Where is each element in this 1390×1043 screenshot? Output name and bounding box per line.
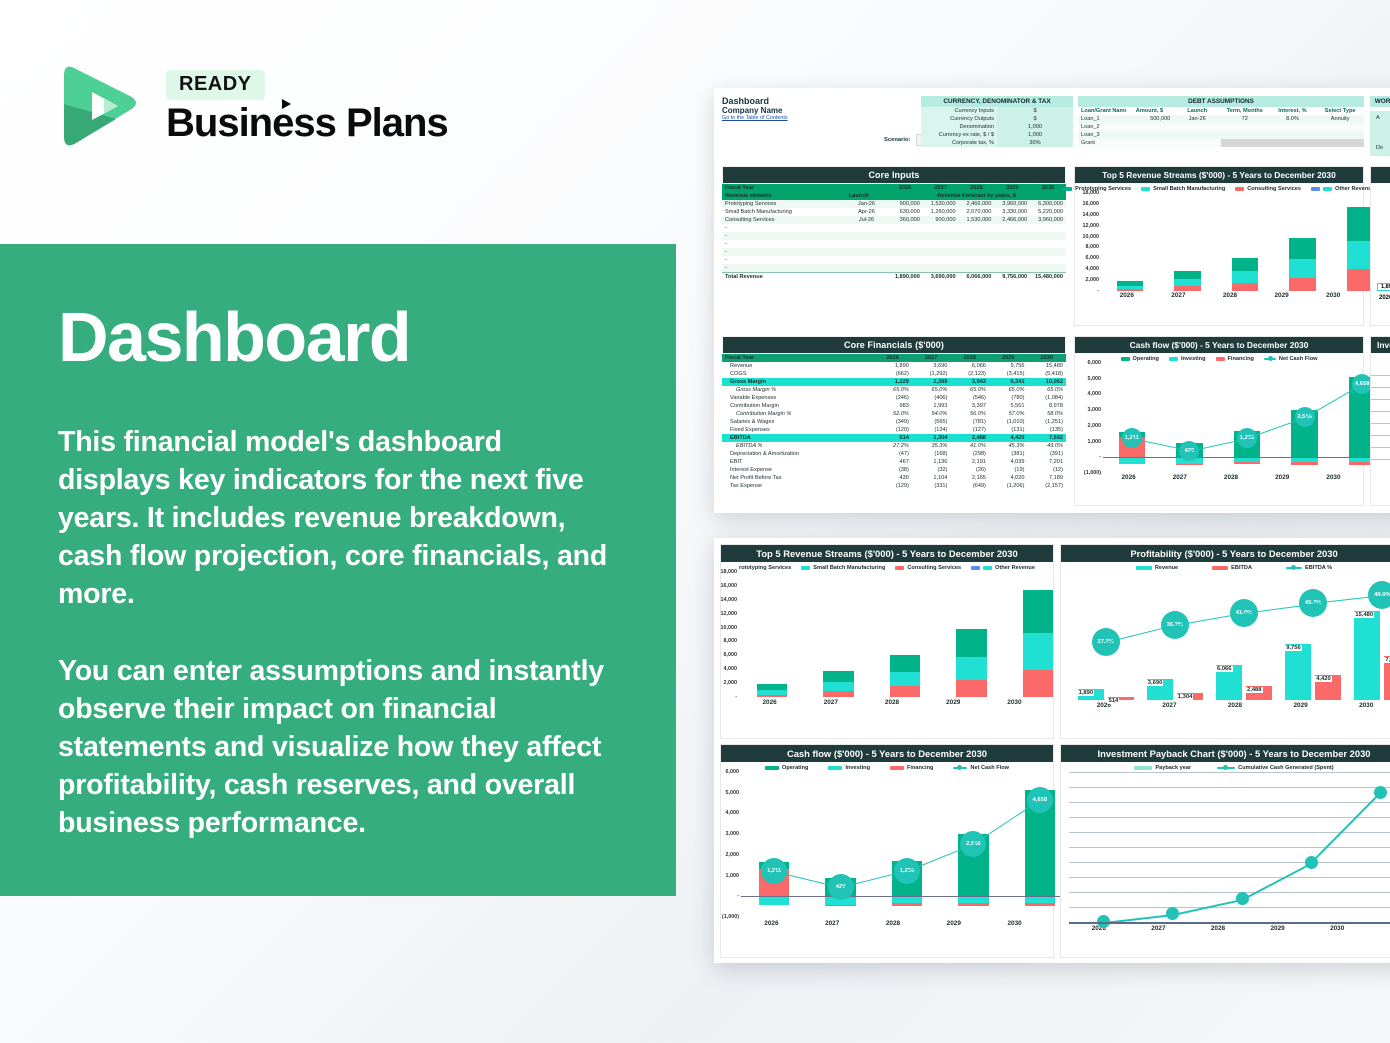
gridline (1069, 907, 1390, 908)
cell: (298) (950, 450, 989, 458)
y-tick: 2,000 (724, 680, 738, 686)
cell: 3,397 (950, 402, 989, 410)
table-total-row: Total Revenue1,890,0003,690,0006,066,000… (722, 273, 1066, 282)
bar-data-label: 1,304 (1177, 694, 1194, 700)
legend-item[interactable]: Other Revenue (971, 565, 1035, 571)
y-tick: 6,000 (1088, 360, 1102, 366)
table-row: - (722, 232, 1066, 240)
table-row: Contribution Margin %52.0%54.0%56.0%57.0… (722, 410, 1066, 418)
bar-group (1216, 193, 1274, 291)
bar-group (1274, 193, 1332, 291)
table-row: Consulting ServicesJul-26360,000900,0001… (722, 216, 1066, 224)
y-tick: 2,000 (1086, 277, 1100, 283)
bar-segment (956, 657, 987, 680)
legend-item[interactable]: Payback year (1134, 765, 1191, 771)
table-header-row: Loan/Grant Name Amount, $ Launch Term, M… (1078, 107, 1364, 115)
table-row: Variable Expenses(246)(406)(546)(780)(1,… (722, 394, 1066, 402)
bar-segment (1291, 462, 1317, 464)
currency-table: Currency Inputs$ Currency Outputs$ Denom… (921, 107, 1073, 147)
y-tick: (1,000) (722, 914, 739, 920)
cell: (3,415) (989, 370, 1028, 378)
bar-group (741, 772, 807, 917)
y-tick: 4,000 (724, 666, 738, 672)
cell: 9,756 (989, 362, 1028, 370)
cell: 1,890 (873, 362, 912, 370)
cell: (1,251) (1027, 418, 1066, 426)
bar-segment (890, 686, 921, 697)
brand-name-text: Business Plans (166, 101, 448, 145)
cell: 2,399 (912, 378, 951, 386)
bar-segment (1023, 633, 1054, 669)
hero-green-panel: Dashboard This financial model's dashboa… (0, 244, 676, 896)
table-row: Prototyping ServicesJan-26900,0001,530,0… (722, 200, 1066, 208)
bar-segment (1023, 590, 1054, 634)
cell: (781) (950, 418, 989, 426)
y-tick: 10,000 (721, 625, 738, 631)
chart-legend: rototyping Services Small Batch Manufact… (721, 562, 1053, 572)
core-financials-table: Fiscal Year 2026 2027 2028 2029 2030 Rev… (722, 354, 1066, 490)
bar-segment (956, 629, 987, 657)
cell: 41.0% (950, 442, 989, 450)
row-label: Variable Expenses (722, 394, 873, 402)
cell: 430 (873, 474, 912, 482)
chart-top-revenue-streams: Top 5 Revenue Streams ($'000) - 5 Years … (1074, 166, 1364, 326)
row-label: Tax Expense (722, 482, 873, 490)
legend-item[interactable]: Small Batch Manufacturing (801, 565, 885, 571)
y-tick: 12,000 (1083, 223, 1100, 229)
legend-item[interactable]: Cumulative Cash Generated (Spent) (1217, 765, 1333, 771)
y-tick: 1,000 (726, 873, 740, 879)
panel-paragraph-2: You can enter assumptions and instantly … (58, 653, 618, 842)
table-row: Loan_1 500,000 Jan-26 72 8.0% Annuity (1078, 115, 1364, 123)
cell: 2,488 (950, 434, 989, 442)
row-label: EBIT (722, 458, 873, 466)
y-tick: 2,000 (1088, 423, 1102, 429)
bar-segment (958, 896, 989, 903)
core-financials-block: Core Financials ($'000) Fiscal Year 2026… (722, 336, 1066, 490)
cell: 2,191 (950, 458, 989, 466)
currency-block-title: CURRENCY, DENOMINATOR & TAX (921, 96, 1073, 107)
cell: (1,010) (989, 418, 1028, 426)
table-header-row: Fiscal Year 2026 2027 2028 2029 2030 (722, 354, 1066, 362)
cell: 983 (873, 402, 912, 410)
table-row: Tax Expense(129)(331)(649)(1,206)(2,157) (722, 482, 1066, 490)
legend-item[interactable]: Small Batch Manufacturing (1141, 186, 1225, 192)
y-tick: 16,000 (721, 583, 738, 589)
cell: 15,480 (1027, 362, 1066, 370)
bar-data-label: 1,890 (1078, 690, 1095, 696)
bar-segment (958, 903, 989, 906)
bar-segment (823, 671, 854, 682)
cell: 5,561 (989, 402, 1028, 410)
table-row: Currency Inputs$ (921, 107, 1073, 115)
y-tick: 3,000 (1088, 407, 1102, 413)
cell: (47) (873, 450, 912, 458)
table-row: Currency ex rate, $ / $1,000 (921, 131, 1073, 139)
bar-segment (956, 680, 987, 697)
cell: (129) (873, 482, 912, 490)
badge-ready: READY (166, 70, 265, 100)
cell: 7,189 (1027, 474, 1066, 482)
cell: (331) (912, 482, 951, 490)
bar-segment (1174, 279, 1200, 286)
cell: (5,418) (1027, 370, 1066, 378)
y-tick: 6,000 (724, 652, 738, 658)
row-label: Gross Margin % (722, 386, 873, 394)
cell: 1,993 (912, 402, 951, 410)
bar-data-label: 514 (1108, 698, 1120, 704)
y-tick: - (1097, 288, 1099, 294)
debt-block-title: DEBT ASSUMPTIONS (1078, 96, 1364, 107)
toc-link[interactable]: Go to the Table of Contents (722, 115, 788, 121)
screenshot-dashboard-top: Dashboard Company Name Go to the Table o… (714, 88, 1390, 513)
cell: 4,420 (989, 434, 1028, 442)
cell: (124) (912, 426, 951, 434)
row-label: EBITDA % (722, 442, 873, 450)
gridline (1069, 817, 1390, 818)
bar-group (874, 772, 940, 917)
cell: 65.0% (989, 386, 1028, 394)
table-row: - (722, 264, 1066, 273)
currency-denominator-tax-block: CURRENCY, DENOMINATOR & TAX Currency Inp… (921, 96, 1073, 147)
cell: 3,690 (912, 362, 951, 370)
cell: (649) (950, 482, 989, 490)
cell: 49.0% (1027, 442, 1066, 450)
table-row: - (722, 224, 1066, 232)
table-row: Salaries & Wages(349)(565)(781)(1,010)(1… (722, 418, 1066, 426)
row-label: Gross Margin (722, 378, 873, 386)
cell: (2,157) (1027, 482, 1066, 490)
core-inputs-table: Fiscal Year 2026 2027 2028 2029 2030 Rev… (722, 184, 1066, 281)
row-label: EBITDA (722, 434, 873, 442)
cell: (662) (873, 370, 912, 378)
y-tick: 6,000 (726, 769, 740, 775)
cell: 52.0% (873, 410, 912, 418)
y-tick: 18,000 (1083, 190, 1100, 196)
y-tick: - (1099, 454, 1101, 460)
cell: (406) (912, 394, 951, 402)
cell: (780) (989, 394, 1028, 402)
cell: (26) (950, 466, 989, 474)
table-row: Fixed Expenses(120)(124)(127)(131)(135) (722, 426, 1066, 434)
wc-row-1: A (1376, 115, 1390, 121)
bar-segment (1025, 896, 1056, 903)
cell: 4,039 (989, 458, 1028, 466)
chart-legend: Prototyping Services Small Batch Manufac… (1075, 183, 1363, 193)
chart-title: Top 5 Revenue Streams ($'000) - 5 Years … (721, 545, 1053, 562)
cell: 1,136 (912, 458, 951, 466)
table-row: Revenue1,8903,6906,0669,75615,480 (722, 362, 1066, 370)
table-row: Depreciation & Amortization(47)(168)(298… (722, 450, 1066, 458)
brand-logo: READY Business Plans (56, 58, 448, 154)
chart-bottom-cashflow: Cash flow ($'000) - 5 Years to December … (720, 744, 1054, 958)
cell: 35.3% (912, 442, 951, 450)
bar-group (739, 572, 805, 697)
cell: (565) (912, 418, 951, 426)
table-row: Gross Margin %65.0%65.0%65.0%65.0%65.0% (722, 386, 1066, 394)
cell: (381) (989, 450, 1028, 458)
working-capital-title: WORKING CAPITAL (1370, 96, 1390, 107)
play-dot-icon (282, 99, 291, 109)
core-inputs-block: Core Inputs Fiscal Year 2026 2027 2028 2… (722, 166, 1066, 281)
bar-segment (1232, 271, 1258, 282)
wc-row-2: De (1376, 145, 1390, 151)
bar-group (872, 572, 938, 697)
x-axis (1069, 922, 1390, 924)
play-triangle-logo-icon (56, 58, 148, 154)
cell: 6,341 (989, 378, 1028, 386)
chart-legend: Revenue EBITDA EBITDA % (1061, 562, 1390, 572)
cell: (2,123) (950, 370, 989, 378)
cell: 45.3% (989, 442, 1028, 450)
cell: 65.0% (912, 386, 951, 394)
debt-table: Loan/Grant Name Amount, $ Launch Term, M… (1078, 107, 1364, 147)
ebitda-pct-bubble: 49.0% (1368, 581, 1390, 609)
cell: 6,066 (950, 362, 989, 370)
cell: 514 (873, 434, 912, 442)
bar-data-label: 15,480 (1354, 612, 1374, 618)
gridline (1069, 847, 1390, 848)
gridline (1069, 862, 1390, 863)
cell: 8,978 (1027, 402, 1066, 410)
trend-line (1242, 862, 1312, 900)
row-label: Interest Expense (722, 466, 873, 474)
data-label: 1,890 (1377, 283, 1390, 291)
legend-item[interactable]: EBITDA (1212, 565, 1252, 571)
cell: (1,084) (1027, 394, 1066, 402)
working-capital-block: WORKING CAPITAL A De (1370, 96, 1390, 156)
bar-segment (890, 672, 921, 686)
legend-item[interactable]: Revenue (1136, 565, 1178, 571)
table-row: Net Profit Before Tax4301,1042,1654,0207… (722, 474, 1066, 482)
trend-line (1311, 793, 1381, 864)
bar-data-label: 6,066 (1216, 666, 1233, 672)
data-point (1166, 907, 1179, 920)
table-subheader-row: Revenue streams Launch Revenue Forecast … (722, 192, 1066, 200)
table-row: EBITDA %27.2%35.3%41.0%45.3%49.0% (722, 442, 1066, 450)
debt-assumptions-block: DEBT ASSUMPTIONS Loan/Grant Name Amount,… (1078, 96, 1364, 147)
table-row: Loan_2 (1078, 123, 1364, 131)
cell: (1,206) (989, 482, 1028, 490)
gridline (1069, 802, 1390, 803)
row-label: Contribution Margin (722, 402, 873, 410)
core-financials-title: Core Financials ($'000) (722, 336, 1066, 354)
data-point (1305, 856, 1318, 869)
bar-segment (890, 655, 921, 672)
chart-title: Inve (1371, 337, 1390, 353)
bar-segment (892, 903, 923, 906)
table-row: Contribution Margin9831,9933,3975,5618,9… (722, 402, 1066, 410)
bar-data-label: 9,756 (1285, 645, 1302, 651)
bar-segment (1174, 271, 1200, 279)
bar-data-label: 3,690 (1147, 680, 1164, 686)
chart-bottom-profitability: Profitability ($'000) - 5 Years to Decem… (1060, 544, 1390, 739)
table-row: Small Batch ManufacturingApr-26630,0001,… (722, 208, 1066, 216)
scenario-label: Scenario: (884, 137, 910, 143)
y-tick: 3,000 (726, 831, 740, 837)
bar-segment (1025, 903, 1056, 906)
cell: 467 (873, 458, 912, 466)
y-tick: 12,000 (721, 611, 738, 617)
table-row: Grant (1078, 139, 1364, 147)
y-tick: 4,000 (726, 810, 740, 816)
row-label: COGS (722, 370, 873, 378)
cell: (38) (873, 466, 912, 474)
cell: (349) (873, 418, 912, 426)
y-tick: (1,000) (1084, 470, 1101, 476)
cell: (131) (989, 426, 1028, 434)
bar-segment (1232, 258, 1258, 271)
bar-data-label: 7,59 (1384, 657, 1390, 663)
row-label: Contribution Margin % (722, 410, 873, 418)
y-tick: 14,000 (721, 597, 738, 603)
gridline (1069, 877, 1390, 878)
legend-item[interactable]: EBITDA % (1286, 565, 1332, 571)
y-tick: 4,000 (1088, 391, 1102, 397)
gridline (1069, 772, 1390, 773)
sheet-title: Dashboard (722, 96, 788, 106)
cell: 7,592 (1027, 434, 1066, 442)
legend-item[interactable]: Consulting Services (1235, 186, 1301, 192)
table-row: Corporate tax, %30% (921, 139, 1073, 147)
cell: 58.0% (1027, 410, 1066, 418)
chart-x-axis: 20262027202820292030 (1069, 925, 1367, 932)
bar-group (805, 572, 871, 697)
bar-segment (1289, 278, 1315, 291)
chart-title: Profitability ($'000) - 5 Years to Decem… (1061, 545, 1390, 562)
sheet-subtitle: Company Name (722, 106, 788, 115)
chart-top-investment-partial: Inve (1370, 336, 1390, 506)
y-tick: 6,000 (1086, 255, 1100, 261)
row-label: Fixed Expenses (722, 426, 873, 434)
table-row: Loan_3 (1078, 131, 1364, 139)
bar-segment (1289, 259, 1315, 277)
table-row: EBITDA5141,3042,4884,4207,592 (722, 434, 1066, 442)
table-row: Currency Outputs$ (921, 115, 1073, 123)
table-row: Interest Expense(38)(32)(26)(19)(12) (722, 466, 1066, 474)
bar (1354, 611, 1380, 700)
screenshot-dashboard-bottom: Top 5 Revenue Streams ($'000) - 5 Years … (714, 538, 1390, 963)
table-header-row: Fiscal Year 2026 2027 2028 2029 2030 (722, 184, 1066, 192)
chart-legend: Payback year Cumulative Cash Generated (… (1061, 762, 1390, 772)
table-row: EBIT4671,1362,1914,0397,201 (722, 458, 1066, 466)
y-tick: 1,000 (1088, 439, 1102, 445)
y-tick: 5,000 (1088, 376, 1102, 382)
bar-group (1159, 193, 1217, 291)
chart-title: Investment Payback Chart ($'000) - 5 Yea… (1061, 745, 1390, 762)
cell: (1,292) (912, 370, 951, 378)
cell: 4,020 (989, 474, 1028, 482)
cell: 1,304 (912, 434, 951, 442)
chart-title: Top 5 Revenue Streams ($'000) - 5 Years … (1075, 167, 1363, 183)
chart-bottom-investment-payback: Investment Payback Chart ($'000) - 5 Yea… (1060, 744, 1390, 958)
cell: 57.0% (989, 410, 1028, 418)
legend-item[interactable]: Consulting Services (895, 565, 961, 571)
cell: (127) (950, 426, 989, 434)
cell: (120) (873, 426, 912, 434)
cell: (135) (1027, 426, 1066, 434)
cell: 56.0% (950, 410, 989, 418)
bar-group (938, 572, 1004, 697)
cell: 65.0% (1027, 386, 1066, 394)
brand-name: Business Plans (166, 103, 448, 143)
gridline (1069, 892, 1390, 893)
cell: 10,062 (1027, 378, 1066, 386)
row-label: Revenue (722, 362, 873, 370)
panel-paragraph-1: This financial model's dashboard display… (58, 424, 618, 613)
cell: 27.2% (873, 442, 912, 450)
core-inputs-title: Core Inputs (722, 166, 1066, 184)
bar-segment (759, 896, 790, 905)
y-tick: 8,000 (724, 638, 738, 644)
bar-data-label: 2,488 (1246, 687, 1263, 693)
bar-segment (1232, 283, 1258, 291)
cell: (168) (912, 450, 951, 458)
cell: 7,201 (1027, 458, 1066, 466)
page-title: Dashboard (58, 302, 618, 372)
cell: (546) (950, 394, 989, 402)
y-tick: 10,000 (1083, 234, 1100, 240)
cell: 1,229 (873, 378, 912, 386)
y-tick: 2,000 (726, 852, 740, 858)
chart-top-cashflow: Cash flow ($'000) - 5 Years to December … (1074, 336, 1364, 506)
legend-item[interactable]: rototyping Services (739, 565, 791, 571)
net-cash-flow-bubble: 4,658 (1027, 787, 1053, 813)
y-tick: 16,000 (1083, 201, 1100, 207)
cell: (391) (1027, 450, 1066, 458)
bar-data-label: 4,420 (1315, 676, 1332, 682)
x-tick: 2026 (1379, 295, 1390, 301)
bar-segment (1234, 462, 1260, 464)
cell: 1,104 (912, 474, 951, 482)
row-label: Net Profit Before Tax (722, 474, 873, 482)
row-label: Salaries & Wages (722, 418, 873, 426)
y-tick: - (737, 893, 739, 899)
chart-bottom-revenue-streams: Top 5 Revenue Streams ($'000) - 5 Years … (720, 544, 1054, 739)
row-label: Depreciation & Amortization (722, 450, 873, 458)
bar-segment (1289, 238, 1315, 260)
bar-segment (825, 905, 856, 906)
legend-item[interactable]: Other Revenue (1311, 186, 1375, 192)
cell: 65.0% (950, 386, 989, 394)
cell: (32) (912, 466, 951, 474)
data-point (1236, 892, 1249, 905)
sheet-header: Dashboard Company Name Go to the Table o… (722, 96, 788, 121)
table-row: - (722, 256, 1066, 264)
table-row: - (722, 248, 1066, 256)
cell: 54.0% (912, 410, 951, 418)
bar-segment (823, 682, 854, 691)
y-tick: - (735, 694, 737, 700)
cell: 2,165 (950, 474, 989, 482)
y-tick: 5,000 (726, 790, 740, 796)
table-row: - (722, 240, 1066, 248)
cell: 65.0% (873, 386, 912, 394)
y-tick: 4,000 (1086, 266, 1100, 272)
cell: 3,943 (950, 378, 989, 386)
bar-segment (892, 896, 923, 903)
table-row: Gross Margin1,2292,3993,9436,34110,062 (722, 378, 1066, 386)
bar-segment (1023, 670, 1054, 698)
y-tick: 18,000 (721, 569, 738, 575)
table-row: COGS(662)(1,292)(2,123)(3,415)(5,418) (722, 370, 1066, 378)
y-tick: 8,000 (1086, 244, 1100, 250)
cell: (12) (1027, 466, 1066, 474)
gridline (1069, 787, 1390, 788)
bar (1285, 644, 1311, 700)
table-row: Denomination1,000 (921, 123, 1073, 131)
y-tick: 14,000 (1083, 212, 1100, 218)
